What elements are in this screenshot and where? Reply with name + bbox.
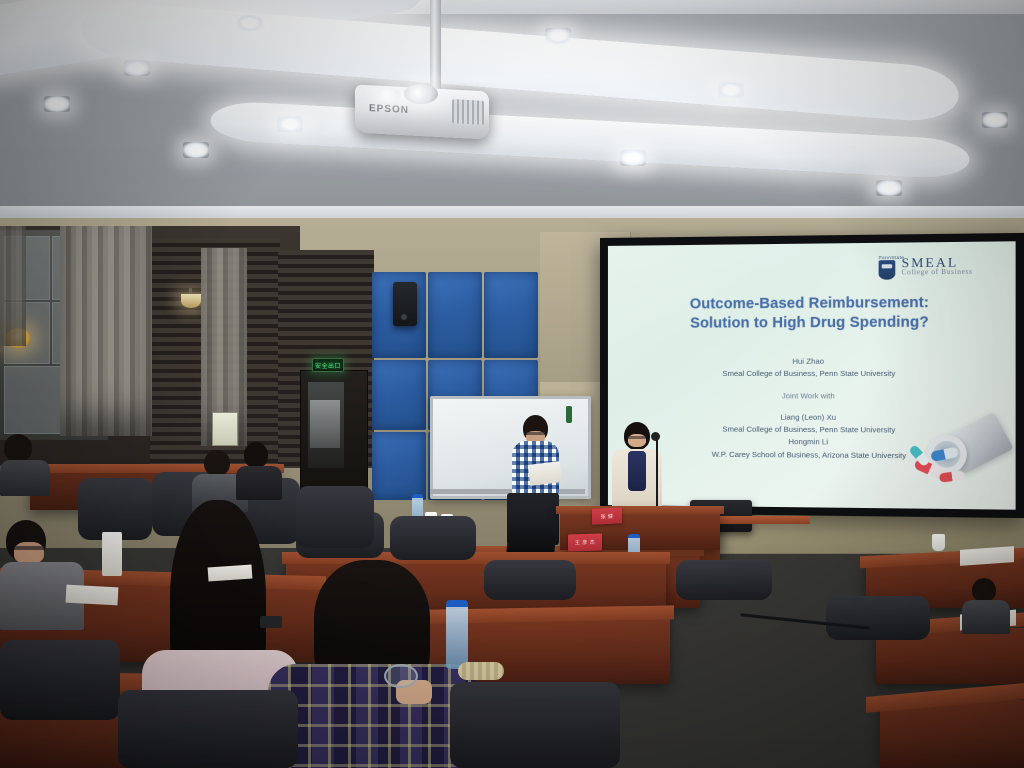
student-plaid-shirt (268, 664, 478, 768)
water-bottle (446, 600, 468, 669)
presenter-affiliation: Smeal College of Business, Penn State Un… (608, 368, 1016, 381)
pennstate-shield-icon (879, 260, 896, 280)
nameplate-text: 王 彦 杰 (575, 539, 595, 547)
ceiling-downlight (545, 28, 571, 44)
audience-chair[interactable] (118, 690, 298, 768)
presenter-top (628, 451, 646, 491)
projector-mount (430, 0, 441, 92)
audience-chair[interactable] (296, 486, 374, 548)
glasses-icon (14, 546, 44, 550)
ceiling-downlight (876, 180, 902, 196)
nameplate: 王 彦 杰 (568, 533, 602, 551)
glasses-icon (628, 436, 646, 439)
ceiling-downlight (183, 142, 209, 158)
speaker-driver-icon (401, 314, 407, 320)
projection-screen: PennState SMEAL College of Business Outc… (608, 241, 1016, 509)
audience-head (4, 434, 32, 462)
audience-member (0, 520, 86, 630)
projector-vent-icon (452, 99, 484, 125)
audience-chair[interactable] (0, 640, 120, 720)
audience-desk-right (880, 700, 1024, 768)
nameplate-text: 张 健 (601, 512, 614, 520)
audience-head (972, 578, 996, 602)
smeal-logo: PennState SMEAL College of Business (877, 248, 1005, 284)
seminar-room-photo: EPSON 安全出口 (0, 0, 1024, 768)
audience-member (962, 578, 1012, 634)
glasses-icon (526, 432, 545, 435)
exit-sign: 安全出口 (312, 358, 344, 372)
microphone-icon (651, 432, 660, 441)
slide-title-line-2: Solution to High Drug Spending? (608, 312, 1016, 333)
ceiling (0, 0, 1024, 250)
wall-poster (212, 412, 238, 446)
ceiling-downlight (44, 96, 70, 112)
ceiling-downlight (237, 15, 263, 31)
ceiling-downlight (718, 82, 744, 98)
ceiling-downlight (982, 112, 1008, 128)
ceiling-downlight (124, 60, 150, 76)
audience-chair[interactable] (676, 560, 772, 600)
audience-torso (0, 460, 50, 496)
whiteboard-marker (566, 406, 572, 423)
smartphone[interactable] (260, 616, 282, 628)
exit-sign-label: 安全出口 (315, 361, 341, 370)
audience-chair[interactable] (450, 682, 620, 768)
nameplate: 张 健 (592, 507, 622, 525)
audience-chair[interactable] (390, 516, 476, 560)
paper-sheet (66, 585, 119, 606)
presenter-notes-paper (528, 461, 562, 486)
audience-torso (236, 466, 282, 500)
audience-head (204, 450, 230, 476)
glasses-case (458, 662, 504, 680)
slide-title-line-1: Outcome-Based Reimbursement: (608, 293, 1016, 314)
pill-icon (939, 470, 965, 482)
projector-lens (404, 84, 438, 104)
presenter-table-rear-top (556, 506, 724, 514)
pill-bottle-illustration (908, 418, 1009, 499)
slide-title: Outcome-Based Reimbursement: Solution to… (608, 293, 1016, 333)
wall-sconce-light (181, 294, 201, 308)
audience-head (244, 442, 268, 468)
curtain (0, 226, 26, 346)
door-reflection (310, 400, 340, 448)
audience-chair[interactable] (484, 560, 576, 600)
paper-cup (102, 532, 122, 576)
presenter-name: Hui Zhao (608, 355, 1016, 368)
curtain (60, 226, 152, 436)
joint-work-label: Joint Work with (608, 390, 1016, 403)
audience-chair[interactable] (826, 596, 930, 640)
laptop-screen[interactable] (506, 520, 558, 554)
projector-lamp-glow (377, 88, 401, 103)
projector-brand-label: EPSON (369, 103, 409, 116)
audience-torso (962, 600, 1010, 634)
eyeglasses-icon (384, 664, 418, 688)
ceiling-downlight (277, 116, 303, 132)
audience-member (0, 434, 52, 496)
ceiling-downlight (620, 150, 646, 166)
smeal-subtitle: College of Business (902, 269, 973, 277)
audience-member (236, 442, 284, 500)
paper-cup (932, 534, 945, 551)
